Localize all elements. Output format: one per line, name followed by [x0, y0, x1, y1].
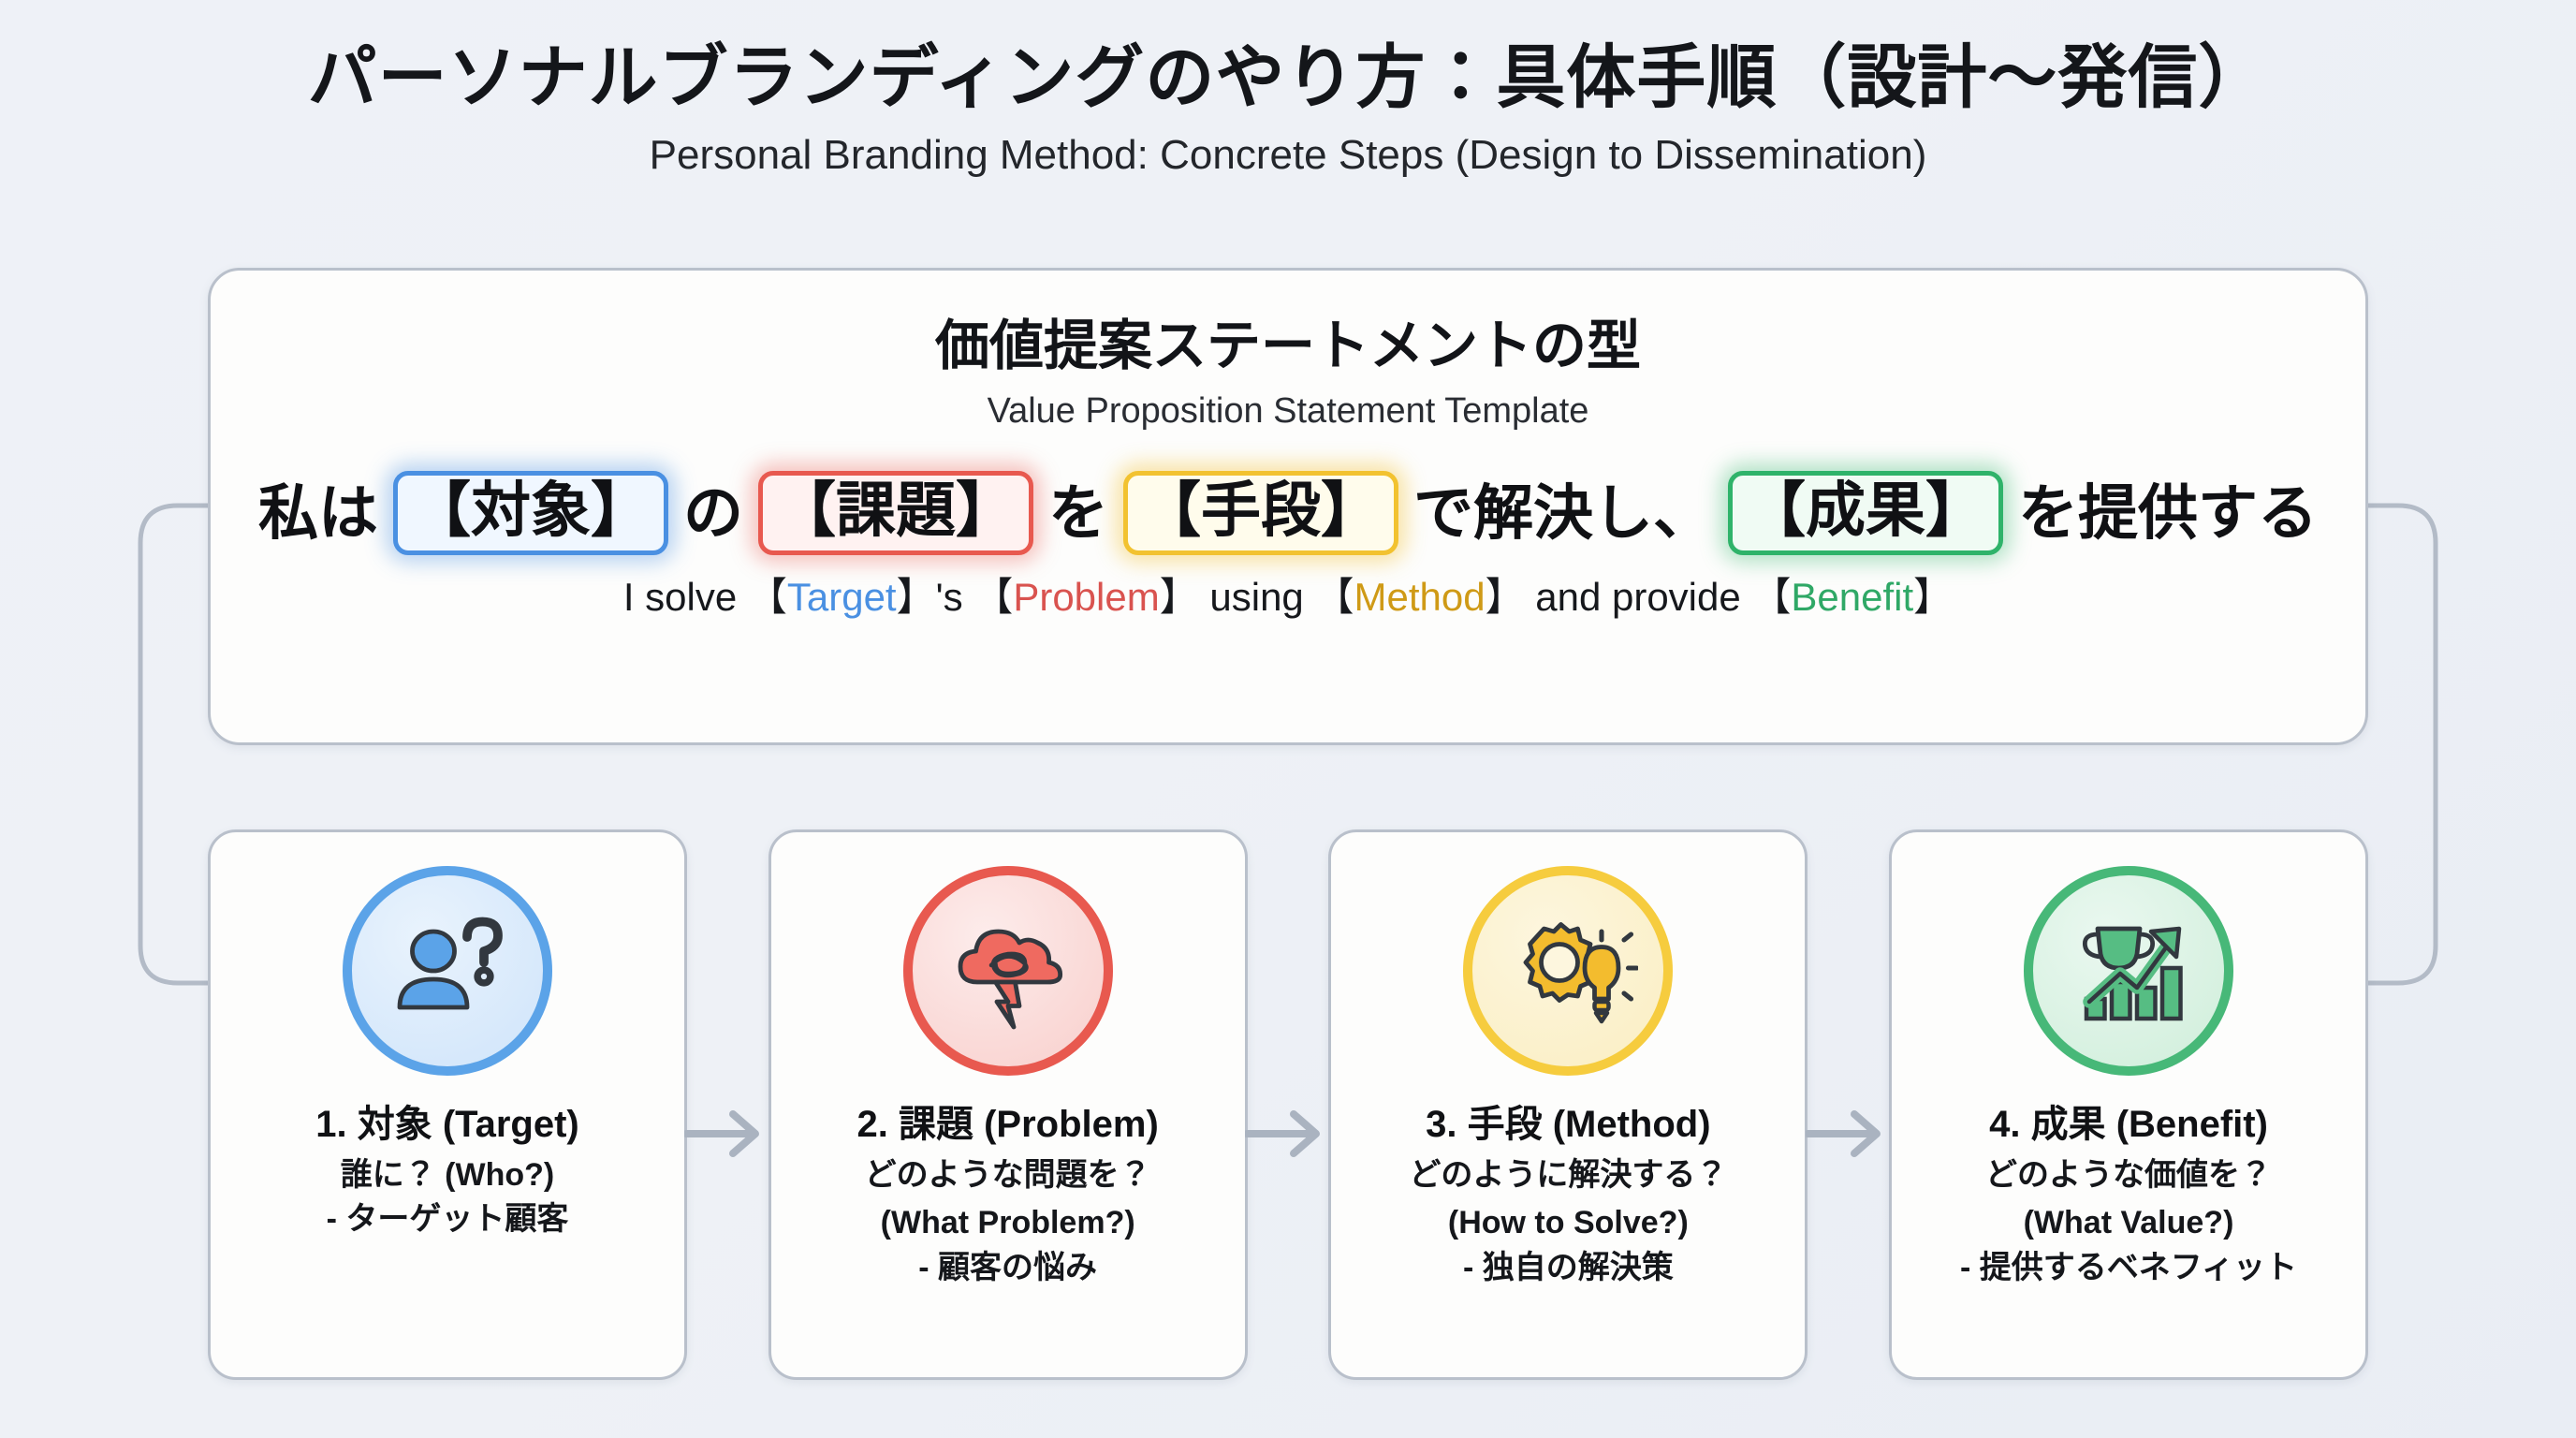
page-title-en: Personal Branding Method: Concrete Steps…: [0, 132, 2576, 180]
step-title: 1. 対象 (Target): [315, 1102, 579, 1149]
stmt-pill-target: 【対象】: [393, 471, 668, 554]
page-header: パーソナルブランディングのやり方：具体手順（設計〜発信） Personal Br…: [0, 39, 2576, 179]
step-text-benefit: 4. 成果 (Benefit) どのような価値を？ (What Value?) …: [1949, 1102, 2308, 1289]
stmt-pill-method: 【手段】: [1123, 471, 1398, 554]
step-sub: どのような価値を？: [1960, 1154, 2297, 1197]
stmt-en-word-method: Method: [1354, 575, 1485, 619]
stmt-ja-seg5: を提供する: [2012, 477, 2323, 550]
stmt-ja-seg4: で解決し、: [1408, 477, 1719, 550]
stmt-en-seg5: 】: [1913, 575, 1953, 619]
stmt-en-word-target: Target: [787, 575, 897, 619]
step-text-problem: 2. 課題 (Problem) どのような問題を？ (What Problem?…: [846, 1102, 1170, 1289]
stmt-pill-benefit: 【成果】: [1728, 471, 2003, 554]
page-title-ja: パーソナルブランディングのやり方：具体手順（設計〜発信）: [0, 39, 2576, 117]
stmt-en-word-problem: Problem: [1013, 575, 1159, 619]
arrow-gap-1: [687, 829, 768, 1380]
statement-title-en: Value Proposition Statement Template: [988, 391, 1589, 433]
statement-line-english: I solve 【Target】's 【Problem】 using 【Meth…: [623, 574, 1953, 621]
step-sub: 誰に？ (Who?): [315, 1154, 579, 1197]
statement-line-japanese: 私は 【対象】 の 【課題】 を 【手段】 で解決し、 【成果】 を提供する: [253, 471, 2323, 554]
arrow-right-icon: [1245, 1101, 1331, 1167]
stmt-en-seg3: 】 using 【: [1160, 575, 1354, 619]
arrow-gap-2: [1248, 829, 1329, 1380]
step-title: 2. 課題 (Problem): [857, 1102, 1159, 1149]
connector-right: [2368, 506, 2436, 983]
statement-title-ja: 価値提案ステートメントの型: [935, 315, 1641, 378]
step-text-target: 1. 対象 (Target) 誰に？ (Who?) - ターゲット顧客: [304, 1102, 591, 1241]
step-note: - 提供するベネフィット: [1960, 1247, 2297, 1290]
arrow-right-icon: [1806, 1101, 1892, 1167]
person-question-icon: [343, 866, 552, 1076]
stmt-ja-seg1: 私は: [253, 477, 384, 550]
connector-left: [140, 506, 208, 983]
arrow-gap-3: [1808, 829, 1889, 1380]
step-note: - 顧客の悩み: [857, 1247, 1159, 1290]
steps-row: 1. 対象 (Target) 誰に？ (Who?) - ターゲット顧客 2.: [208, 829, 2368, 1382]
step-title: 3. 手段 (Method): [1409, 1102, 1727, 1149]
step-card-problem[interactable]: 2. 課題 (Problem) どのような問題を？ (What Problem?…: [768, 829, 1248, 1380]
step-sub-2: (How to Solve?): [1409, 1202, 1727, 1245]
step-sub-2: (What Problem?): [857, 1202, 1159, 1245]
value-proposition-card: 価値提案ステートメントの型 Value Proposition Statemen…: [208, 268, 2368, 745]
stmt-en-word-benefit: Benefit: [1791, 575, 1913, 619]
trophy-growth-chart-icon: [2024, 866, 2233, 1076]
step-sub-2: (What Value?): [1960, 1202, 2297, 1245]
infographic-root: パーソナルブランディングのやり方：具体手順（設計〜発信） Personal Br…: [0, 0, 2576, 1438]
step-sub: どのような問題を？: [857, 1154, 1159, 1197]
stmt-en-seg1: I solve 【: [623, 575, 787, 619]
step-sub: どのように解決する？: [1409, 1154, 1727, 1197]
step-card-method[interactable]: 3. 手段 (Method) どのように解決する？ (How to Solve?…: [1328, 829, 1808, 1380]
gear-lightbulb-icon: [1463, 866, 1673, 1076]
stmt-ja-seg3: を: [1043, 477, 1114, 550]
step-card-benefit[interactable]: 4. 成果 (Benefit) どのような価値を？ (What Value?) …: [1889, 829, 2368, 1380]
stmt-en-seg2: 】's 【: [897, 575, 1014, 619]
stmt-en-seg4: 】 and provide 【: [1486, 575, 1792, 619]
step-note: - ターゲット顧客: [315, 1198, 579, 1241]
step-text-method: 3. 手段 (Method) どのように解決する？ (How to Solve?…: [1398, 1102, 1738, 1289]
step-note: - 独自の解決策: [1409, 1247, 1727, 1290]
arrow-right-icon: [684, 1101, 770, 1167]
stmt-ja-seg2: の: [678, 477, 749, 550]
step-title: 4. 成果 (Benefit): [1960, 1102, 2297, 1149]
storm-cloud-icon: [903, 866, 1113, 1076]
step-card-target[interactable]: 1. 対象 (Target) 誰に？ (Who?) - ターゲット顧客: [208, 829, 687, 1380]
stmt-pill-problem: 【課題】: [758, 471, 1033, 554]
